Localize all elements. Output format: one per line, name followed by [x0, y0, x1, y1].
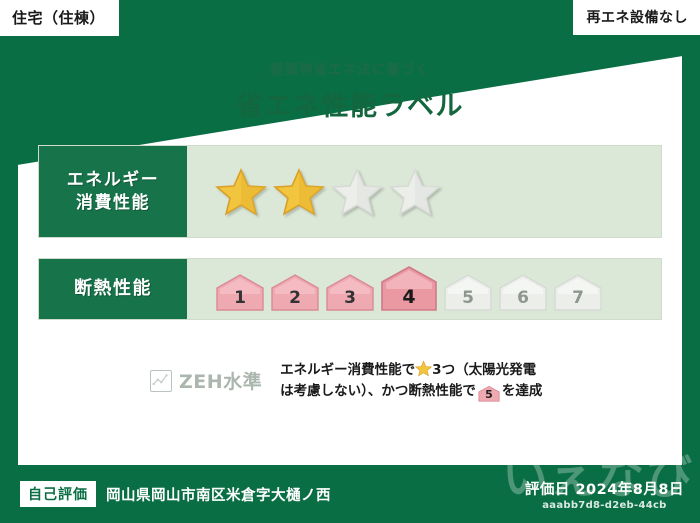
description-text-c: は考慮しない）、かつ断熱性能で [280, 383, 476, 399]
star-icon [415, 360, 432, 377]
description-text-b: 3つ（太陽光発電 [432, 362, 536, 378]
star-icon [389, 167, 441, 217]
evaluation-id: aaabb7d8-d2eb-44cb [525, 500, 684, 511]
evaluation-meta: 評価日 2024年8月8日 aaabb7d8-d2eb-44cb [525, 478, 684, 511]
inline-badge-value: 5 [485, 388, 493, 401]
energy-performance-row: エネルギー 消費性能 [38, 145, 662, 238]
insulation-performance-label: 断熱性能 [39, 259, 187, 319]
insulation-level-badge-1: 1 [215, 274, 265, 312]
inline-insulation-badge: 5 [478, 386, 500, 402]
energy-performance-label: エネルギー 消費性能 [39, 146, 187, 237]
energy-rating-content [187, 146, 661, 237]
evaluation-date: 評価日 2024年8月8日 [525, 482, 684, 498]
insulation-level-badge-5: 5 [443, 274, 493, 312]
description-line-2: は考慮しない）、かつ断熱性能で5を達成 [280, 381, 542, 402]
zeh-mark-icon [150, 370, 172, 392]
energy-performance-label: 住宅（住棟） 再エネ設備なし 建築物省エネ法に基づく 省エネ性能ラベル エネルギ… [0, 0, 700, 523]
energy-label-line1: エネルギー [67, 169, 160, 192]
building-type-tag: 住宅（住棟） [0, 0, 119, 36]
star-rating [215, 167, 441, 217]
star-icon [215, 167, 267, 217]
insulation-level-badge-2: 2 [270, 274, 320, 312]
zeh-logo: ZEH水準 [150, 367, 262, 394]
zeh-logo-label: ZEH水準 [179, 367, 262, 394]
achievement-description: エネルギー消費性能で3つ（太陽光発電 は考慮しない）、かつ断熱性能で5を達成 [280, 360, 542, 402]
insulation-level-badge-3: 3 [325, 274, 375, 312]
description-text-a: エネルギー消費性能で [280, 362, 415, 378]
insulation-level-value: 7 [572, 288, 584, 308]
title-subtitle: 建築物省エネ法に基づく [0, 58, 700, 78]
star-icon [273, 167, 325, 217]
insulation-level-badge-6: 6 [498, 274, 548, 312]
energy-label-line2: 消費性能 [76, 192, 150, 215]
page-title: 省エネ性能ラベル [0, 84, 700, 123]
label-titles: 建築物省エネ法に基づく 省エネ性能ラベル [0, 58, 700, 123]
insulation-level-value: 1 [234, 288, 246, 308]
performance-rows: エネルギー 消費性能 [38, 145, 662, 332]
self-evaluation-badge: 自己評価 [20, 481, 96, 507]
property-address: 岡山県岡山市南区米倉字大樋ノ西 [106, 484, 331, 505]
insulation-level-value: 3 [344, 288, 356, 308]
label-footer: 自己評価 岡山県岡山市南区米倉字大樋ノ西 評価日 2024年8月8日 aaabb… [0, 465, 700, 523]
insulation-level-content: 1 2 3 [187, 259, 661, 319]
insulation-level-value: 2 [289, 288, 301, 308]
description-line-1: エネルギー消費性能で3つ（太陽光発電 [280, 360, 542, 381]
insulation-level-value: 4 [402, 286, 415, 308]
insulation-level-scale: 1 2 3 [215, 266, 603, 312]
insulation-level-badge-4-active: 4 [380, 266, 438, 312]
renewable-energy-tag: 再エネ設備なし [573, 0, 700, 35]
description-text-d: を達成 [502, 383, 543, 399]
zeh-standard-section: ZEH水準 エネルギー消費性能で3つ（太陽光発電 は考慮しない）、かつ断熱性能で… [150, 360, 660, 402]
star-icon [331, 167, 383, 217]
insulation-performance-row: 断熱性能 1 [38, 258, 662, 320]
insulation-level-value: 5 [462, 288, 474, 308]
insulation-level-badge-7: 7 [553, 274, 603, 312]
insulation-label-text: 断熱性能 [74, 277, 152, 301]
insulation-level-value: 6 [517, 288, 529, 308]
